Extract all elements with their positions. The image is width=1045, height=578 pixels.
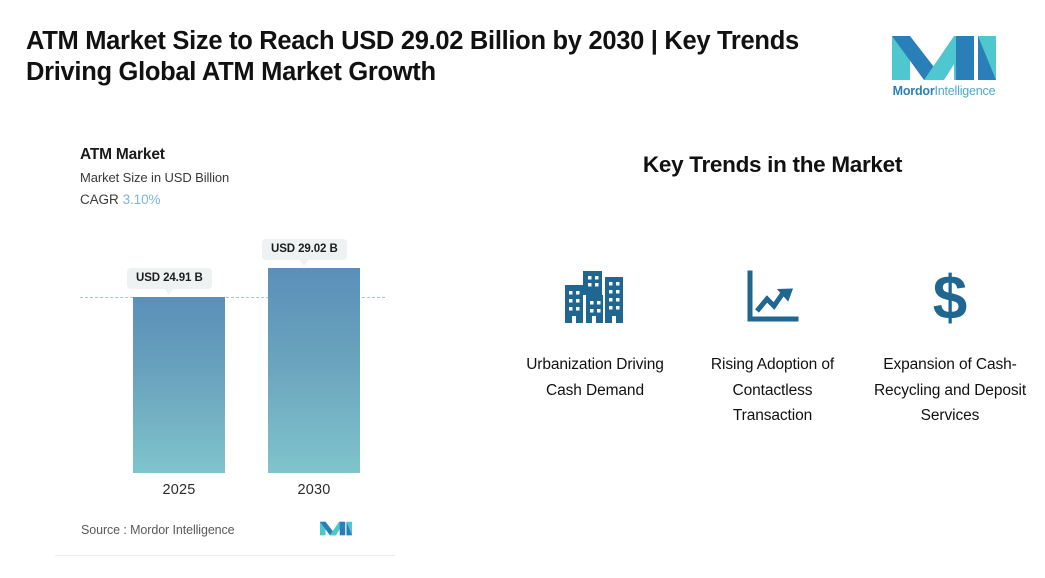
buildings-icon [564, 268, 626, 326]
trend-item-contactless: Rising Adoption of Contactless Transacti… [693, 268, 853, 429]
x-axis-tick-2025: 2025 [133, 482, 225, 498]
brand-wordmark: MordorIntelligence [884, 84, 1004, 98]
trend-label-contactless: Rising Adoption of Contactless Transacti… [693, 352, 853, 429]
chart-source-label: Source : Mordor Intelligence [81, 523, 235, 537]
bar-2025 [133, 297, 225, 473]
chart-cagr-value: 3.10% [123, 192, 161, 207]
trend-item-cash-recycling: $ Expansion of Cash-Recycling and Deposi… [870, 268, 1030, 429]
page-title: ATM Market Size to Reach USD 29.02 Billi… [26, 26, 826, 88]
market-size-chart-card: ATM Market Market Size in USD Billion CA… [55, 128, 395, 556]
trend-label-urbanization: Urbanization Driving Cash Demand [515, 352, 675, 403]
chart-cagr: CAGR3.10% [80, 192, 160, 207]
brand-wordmark-bold: Mordor [893, 84, 935, 98]
brand-wordmark-light: Intelligence [935, 84, 996, 98]
chart-title: ATM Market [80, 146, 165, 164]
key-trends-list: Urbanization Driving Cash Demand Rising … [515, 268, 1030, 429]
bar-2030 [268, 268, 360, 473]
key-trends-panel: Key Trends in the Market [500, 128, 1045, 558]
chart-source-logo-icon [320, 518, 352, 536]
x-axis-tick-2030: 2030 [268, 482, 360, 498]
trend-label-cash-recycling: Expansion of Cash-Recycling and Deposit … [870, 352, 1030, 429]
brand-logo: MordorIntelligence [884, 26, 1004, 106]
chart-subtitle: Market Size in USD Billion [80, 170, 229, 185]
trend-item-urbanization: Urbanization Driving Cash Demand [515, 268, 675, 403]
svg-text:$: $ [933, 267, 967, 327]
mordor-intelligence-mark-icon [892, 26, 996, 80]
dollar-sign-icon: $ [928, 268, 972, 326]
bar-value-label-2030: USD 29.02 B [262, 239, 347, 260]
bar-value-label-2025: USD 24.91 B [127, 268, 212, 289]
key-trends-heading: Key Trends in the Market [531, 152, 1014, 178]
chart-cagr-label: CAGR [80, 192, 119, 207]
page-header: ATM Market Size to Reach USD 29.02 Billi… [0, 0, 1045, 120]
growth-chart-icon [745, 268, 801, 326]
chart-plot-area: USD 24.91 B USD 29.02 B 2025 2030 [55, 228, 395, 498]
